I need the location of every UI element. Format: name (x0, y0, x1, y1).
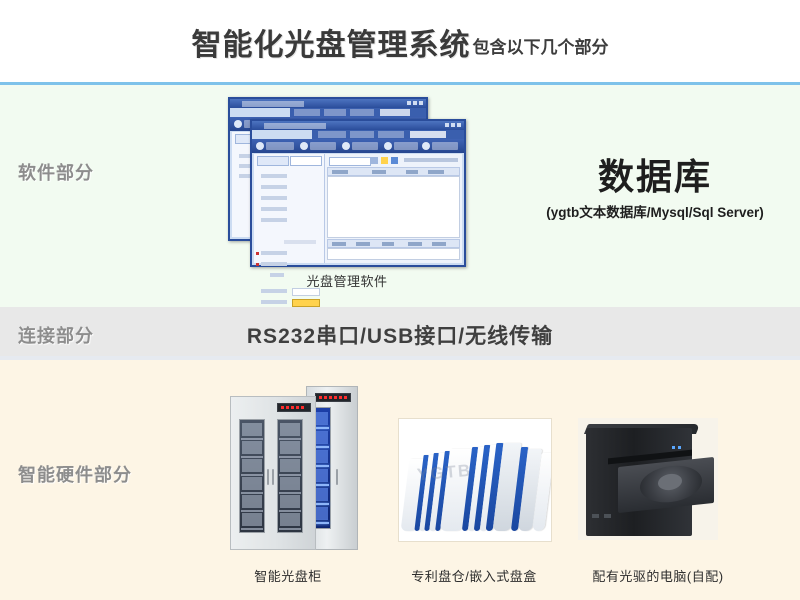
page-title-sub: 包含以下几个部分 (473, 33, 609, 58)
window-title-placeholder (264, 123, 326, 129)
software-section-label: 软件部分 (18, 159, 94, 185)
disc-cabinet-photo (218, 378, 358, 550)
cabinet-left (230, 396, 316, 550)
app-window-front (250, 119, 466, 267)
window-controls (407, 101, 423, 105)
hardware-caption-1: 智能光盘柜 (208, 566, 368, 585)
warning-icon[interactable] (381, 157, 388, 164)
window-titlebar (252, 121, 464, 130)
pc-front-ports (592, 514, 611, 518)
pc-indicator-leds (672, 446, 681, 449)
window-controls (445, 123, 461, 127)
disc-cartridge-photo: YGTB (398, 418, 552, 542)
window-toolbar (252, 139, 464, 153)
dropdown-icon[interactable] (371, 157, 378, 164)
page-title: 智能化光盘管理系统 包含以下几个部分 (0, 0, 800, 84)
window-titlebar (230, 99, 426, 108)
infographic-page: 智能化光盘管理系统 包含以下几个部分 软件部分 (0, 0, 800, 600)
grid-icon[interactable] (391, 157, 398, 164)
window-tabstrip (312, 130, 464, 139)
window-body (254, 154, 462, 263)
software-screenshot (228, 97, 466, 265)
grid-pane (325, 154, 462, 263)
header: 智能化光盘管理系统 包含以下几个部分 (0, 0, 800, 84)
form-pane (254, 154, 325, 263)
hardware-caption-3: 配有光驱的电脑(自配) (568, 566, 748, 585)
connection-text: RS232串口/USB接口/无线传输 (0, 320, 800, 350)
search-input[interactable] (329, 157, 371, 166)
hardware-caption-2: 专利盘仓/嵌入式盘盒 (384, 566, 564, 585)
page-title-main: 智能化光盘管理系统 (192, 20, 471, 64)
window-title-placeholder (242, 101, 304, 107)
hardware-section-label: 智能硬件部分 (18, 461, 132, 487)
database-title: 数据库 (520, 158, 790, 196)
database-subtitle: (ygtb文本数据库/Mysql/Sql Server) (520, 201, 790, 221)
software-screenshot-caption: 光盘管理软件 (228, 271, 466, 290)
pc-optical-drive-photo (578, 418, 718, 540)
window-tabstrip (290, 108, 426, 117)
database-block: 数据库 (ygtb文本数据库/Mysql/Sql Server) (520, 158, 790, 221)
